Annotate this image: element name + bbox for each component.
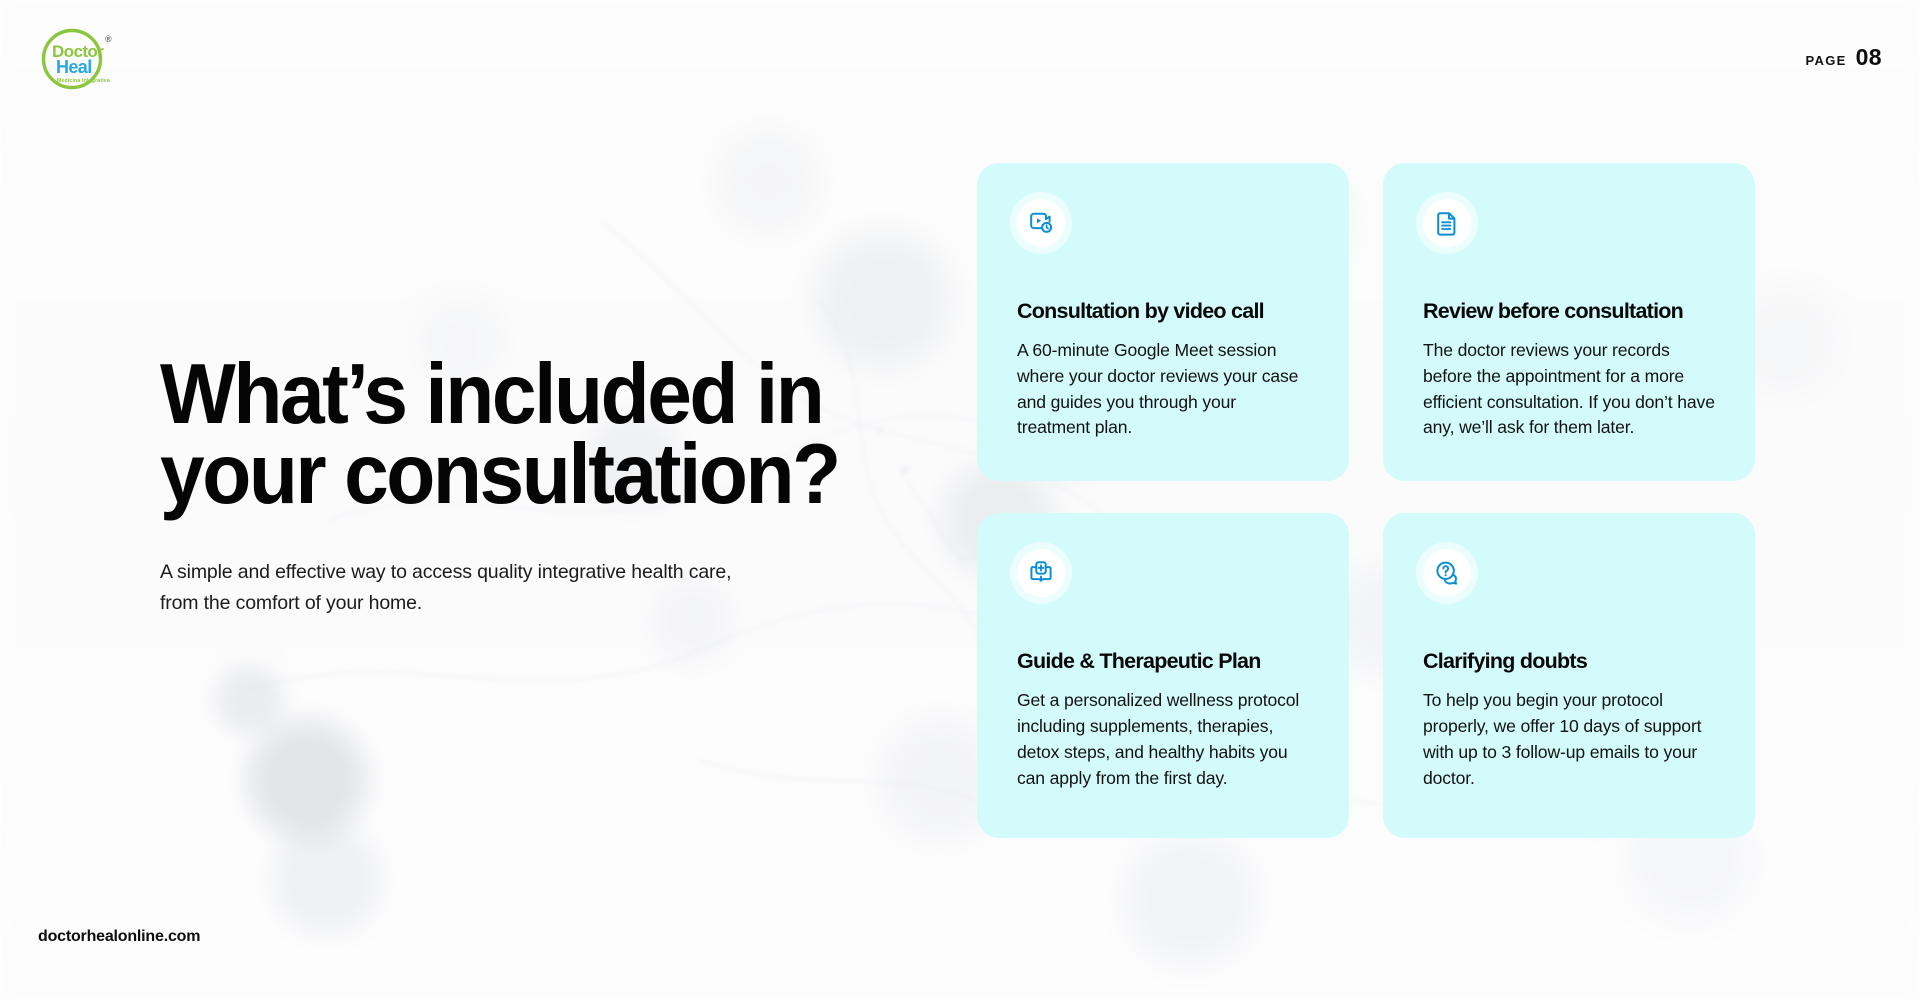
video-call-clock-icon [1028, 210, 1054, 236]
icon-badge [1017, 199, 1065, 247]
feature-card-video-call[interactable]: Consultation by video call A 60-minute G… [977, 163, 1349, 481]
svg-text:®: ® [105, 34, 112, 44]
page-indicator: PAGE 08 [1806, 44, 1882, 71]
svg-text:Medicina Integrativa: Medicina Integrativa [57, 78, 110, 84]
feature-card-doubts[interactable]: Clarifying doubts To help you begin your… [1383, 513, 1755, 838]
page-subtitle: A simple and effective way to access qua… [160, 557, 820, 619]
card-body: To help you begin your protocol properly… [1423, 688, 1715, 791]
icon-badge [1423, 199, 1471, 247]
document-records-icon [1435, 210, 1459, 236]
page-label: PAGE [1806, 53, 1847, 68]
hero-column: What’s included in your consultation? A … [160, 355, 900, 618]
feature-card-guide[interactable]: Guide & Therapeutic Plan Get a personali… [977, 513, 1349, 838]
svg-text:Heal: Heal [56, 57, 92, 77]
feature-card-grid: Consultation by video call A 60-minute G… [977, 163, 1759, 838]
open-book-guide-icon [1028, 560, 1054, 586]
card-title: Review before consultation [1423, 299, 1715, 325]
card-body: A 60-minute Google Meet session where yo… [1017, 338, 1309, 441]
icon-badge [1017, 549, 1065, 597]
card-body: Get a personalized wellness protocol inc… [1017, 688, 1309, 791]
question-chat-bubble-icon [1434, 560, 1460, 586]
footer-website[interactable]: doctorhealonline.com [38, 928, 200, 946]
card-title: Consultation by video call [1017, 299, 1309, 325]
slide-canvas: Doctor Heal Medicina Integrativa ® PAGE … [0, 0, 1920, 1000]
icon-badge [1423, 549, 1471, 597]
card-title: Clarifying doubts [1423, 649, 1715, 675]
page-number: 08 [1856, 44, 1882, 71]
card-title: Guide & Therapeutic Plan [1017, 649, 1309, 675]
brand-logo[interactable]: Doctor Heal Medicina Integrativa ® [34, 26, 120, 92]
feature-card-review[interactable]: Review before consultation The doctor re… [1383, 163, 1755, 481]
card-body: The doctor reviews your records before t… [1423, 338, 1715, 441]
page-title: What’s included in your consultation? [160, 355, 859, 515]
